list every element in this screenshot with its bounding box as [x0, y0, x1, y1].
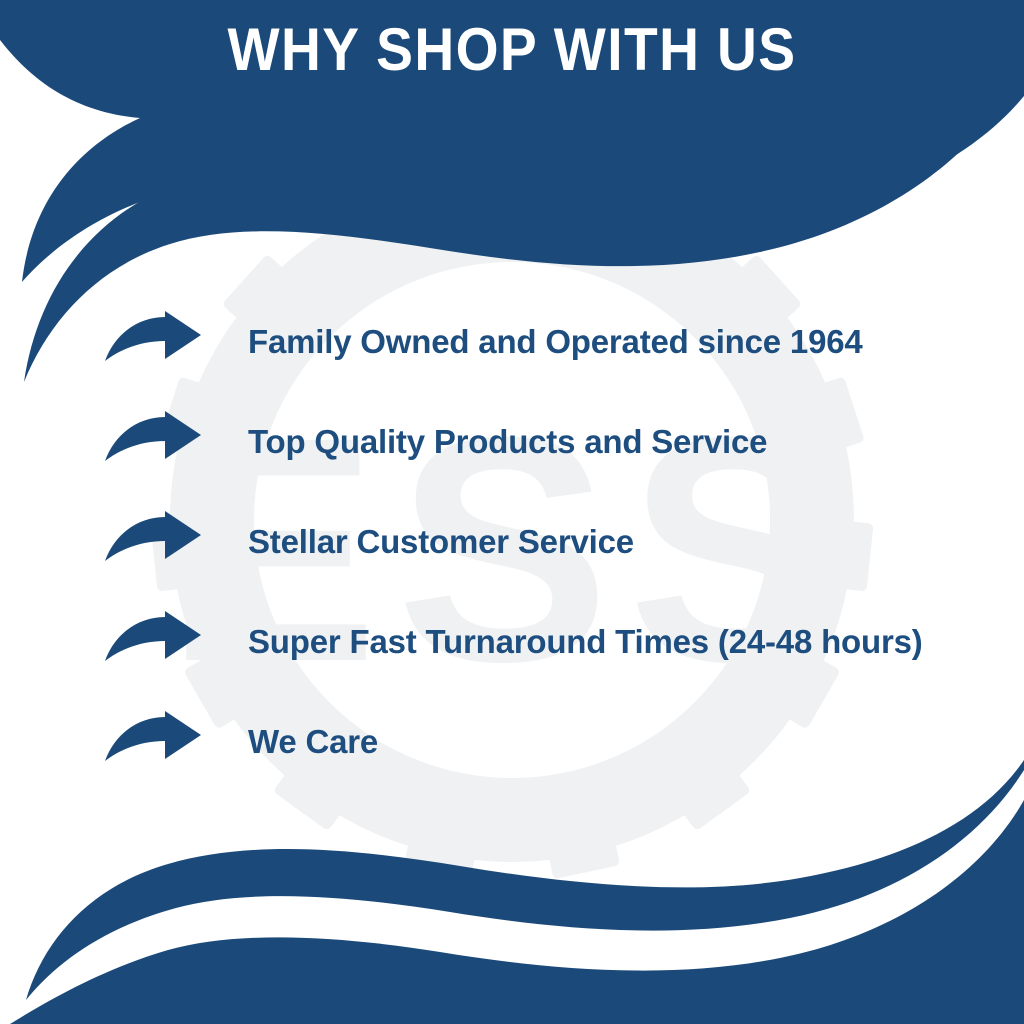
list-item[interactable]: Family Owned and Operated since 1964: [0, 292, 1024, 392]
list-item-label: Stellar Customer Service: [248, 522, 1024, 562]
list-item[interactable]: Super Fast Turnaround Times (24-48 hours…: [0, 592, 1024, 692]
bottom-wave-shape: [10, 800, 1024, 1024]
list-item-label: Super Fast Turnaround Times (24-48 hours…: [248, 622, 1024, 662]
why-shop-with-us-poster: ESS WHY SHOP WITH US Family Owned and Op…: [0, 0, 1024, 1024]
curved-arrow-icon: [103, 511, 203, 573]
list-item-label: Top Quality Products and Service: [248, 422, 1024, 462]
curved-arrow-icon: [103, 711, 203, 773]
list-item-label: We Care: [248, 722, 1024, 762]
feature-list: Family Owned and Operated since 1964 Top…: [0, 292, 1024, 792]
page-title: WHY SHOP WITH US: [41, 16, 983, 84]
curved-arrow-icon: [103, 611, 203, 673]
list-item[interactable]: Top Quality Products and Service: [0, 392, 1024, 492]
list-item[interactable]: Stellar Customer Service: [0, 492, 1024, 592]
curved-arrow-icon: [103, 311, 203, 373]
list-item[interactable]: We Care: [0, 692, 1024, 792]
bottom-swoosh-line: [26, 760, 1024, 1000]
curved-arrow-icon: [103, 411, 203, 473]
list-item-label: Family Owned and Operated since 1964: [248, 322, 1024, 362]
